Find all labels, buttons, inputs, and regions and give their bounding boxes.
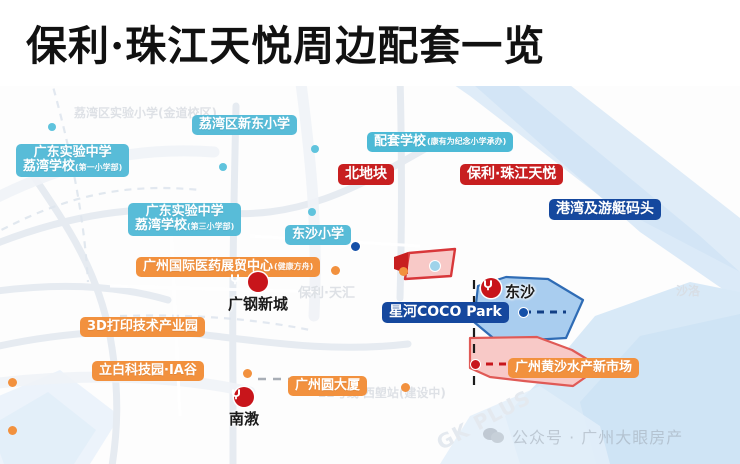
label-text-note: (第三小学部) — [187, 222, 234, 231]
label-text: 东沙小学 — [292, 228, 344, 242]
label-text: 广州黄沙水产新市场 — [515, 361, 632, 375]
label-text-note: (第一小学部) — [75, 163, 122, 172]
poi-dot-school-1 — [48, 123, 56, 131]
metro-logo-icon — [248, 272, 268, 292]
poi-dot-north-plot — [429, 260, 441, 272]
metro-station-nanjiao[interactable]: 南漖 — [229, 387, 259, 429]
label-text-line2: 荔湾学校(第三小学部) — [135, 219, 234, 233]
map-canvas[interactable]: 荔湾区实验小学(金道校区) 保利·天汇 22号线 西塱站(建设中) 沙洛 荔湾区… — [0, 86, 740, 464]
poi-dot-school-3 — [219, 163, 227, 171]
label-text: 港湾及游艇码头 — [556, 202, 654, 217]
poster-root: 保利·珠江天悦周边配套一览 — [0, 0, 740, 464]
ghost-label-mid: 保利·天汇 — [298, 282, 355, 301]
poi-dot-school-4 — [308, 208, 316, 216]
label-school-gdsy-liwan-3[interactable]: 广东实验中学 荔湾学校(第三小学部) — [128, 203, 241, 236]
metro-station-name-dongsha: 东沙 — [505, 281, 535, 302]
label-text-note: (康有为纪念小学承办) — [427, 138, 506, 147]
poi-dot-landmark-cocopark — [350, 241, 361, 252]
poi-dot-commercial-7 — [8, 378, 17, 387]
label-text: 荔湾区新东小学 — [199, 118, 290, 132]
page-title: 保利·珠江天悦周边配套一览 — [26, 12, 545, 72]
watermark-text: 公众号 · 广州大眼房产 — [512, 424, 683, 448]
channel-watermark: 公众号 · 广州大眼房产 — [483, 424, 683, 448]
label-text-note: (健康方舟) — [274, 263, 313, 272]
label-school-supporting[interactable]: 配套学校(康有为纪念小学承办) — [367, 132, 513, 152]
label-text-main: 荔湾学校 — [135, 218, 187, 233]
title-bar: 保利·珠江天悦周边配套一览 — [0, 0, 740, 86]
poi-dot-commercial-3 — [243, 369, 252, 378]
wechat-icon — [483, 428, 505, 445]
metro-station-name: 广钢新城 — [228, 293, 288, 314]
label-landmark-harbour-marina[interactable]: 港湾及游艇码头 — [549, 199, 661, 220]
poi-dot-commercial-4 — [401, 383, 410, 392]
label-text: 广州圆大厦 — [295, 379, 360, 393]
poi-dot-school-2 — [311, 145, 319, 153]
label-commercial-3d-print-park[interactable]: 3D打印技术产业园 — [80, 317, 205, 337]
label-commercial-guangzhou-circle[interactable]: 广州圆大厦 — [288, 376, 367, 396]
poi-dot-harbour — [518, 307, 529, 318]
label-text: 立白科技园·IA谷 — [99, 364, 197, 378]
metro-station-name: 南漖 — [229, 408, 259, 429]
metro-station-guanggang-new-city[interactable]: 广钢新城 — [228, 272, 288, 314]
label-commercial-liby-ia-valley[interactable]: 立白科技园·IA谷 — [92, 361, 204, 381]
label-school-xindong-primary[interactable]: 荔湾区新东小学 — [192, 115, 297, 135]
label-school-dongsha-primary[interactable]: 东沙小学 — [285, 225, 351, 245]
label-school-gdsy-liwan-1[interactable]: 广东实验中学 荔湾学校(第一小学部) — [16, 144, 129, 177]
label-commercial-huangsha-seafood[interactable]: 广州黄沙水产新市场 — [508, 358, 639, 378]
metro-station-dongsha[interactable] — [481, 278, 501, 298]
metro-logo-icon — [481, 278, 501, 298]
label-landmark-coco-park[interactable]: 星河COCO Park — [382, 302, 509, 323]
label-text-line1: 广东实验中学 — [146, 205, 224, 219]
label-text: 保利·珠江天悦 — [467, 167, 556, 182]
ghost-label-right: 沙洛 — [676, 282, 700, 299]
metro-logo-icon — [234, 387, 254, 407]
label-text-line2: 荔湾学校(第一小学部) — [23, 160, 122, 174]
label-text: 配套学校 — [374, 135, 426, 149]
label-text: 北地块 — [345, 167, 387, 182]
poi-dot-commercial-8 — [8, 426, 17, 435]
label-text-main: 荔湾学校 — [23, 159, 75, 174]
label-project-north-plot[interactable]: 北地块 — [338, 164, 394, 185]
label-text-line1: 广东实验中学 — [34, 146, 112, 160]
label-text: 3D打印技术产业园 — [87, 320, 198, 334]
label-project-poly-pearl-river[interactable]: 保利·珠江天悦 — [460, 164, 563, 185]
poi-dot-commercial-1 — [331, 266, 340, 275]
poi-dot-commercial-5 — [399, 267, 408, 276]
label-text: 星河COCO Park — [389, 305, 502, 320]
poi-dot-project — [470, 359, 481, 370]
